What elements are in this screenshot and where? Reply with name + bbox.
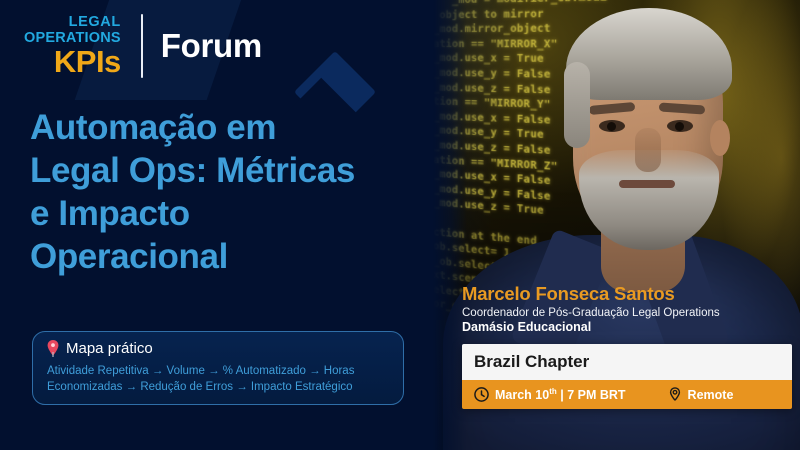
event-details-bar: March 10th | 7 PM BRT Remote — [462, 380, 792, 409]
mapa-header: Mapa prático — [47, 340, 389, 357]
brand-logo[interactable]: LEGAL OPERATIONS KPIs Forum — [24, 14, 262, 78]
portrait-nose — [635, 128, 661, 172]
logo-mark: LEGAL OPERATIONS KPIs — [24, 15, 121, 77]
portrait-mouth — [619, 180, 675, 188]
page-title: Automação em Legal Ops: Métricas e Impac… — [30, 106, 430, 278]
title-line-1: Automação em — [30, 106, 430, 149]
event-location: Remote — [668, 387, 734, 402]
mapa-heading: Mapa prático — [66, 340, 153, 357]
title-line-2: Legal Ops: Métricas — [30, 149, 430, 192]
speaker-role: Coordenador de Pós-Graduação Legal Opera… — [462, 307, 792, 319]
speaker-info: Marcelo Fonseca Santos Coordenador de Pó… — [462, 283, 792, 334]
portrait-eye-right — [667, 120, 693, 132]
event-location-text: Remote — [688, 388, 734, 402]
portrait-ear — [710, 120, 730, 156]
logo-legal-text: LEGAL — [24, 15, 121, 30]
title-line-4: Operacional — [30, 235, 430, 278]
event-banner: _mod = modifier_ob.modi object to mirror… — [0, 0, 800, 450]
location-pin-icon — [668, 387, 682, 402]
pin-icon — [47, 340, 59, 357]
portrait-eye-left — [599, 120, 625, 132]
forum-label: Forum — [161, 27, 262, 65]
clock-icon — [474, 387, 489, 402]
event-datetime: March 10th | 7 PM BRT — [474, 387, 626, 402]
chapter-card: Brazil Chapter March 10th | 7 PM BRT Rem… — [462, 344, 792, 409]
portrait-hair-side — [564, 62, 590, 148]
logo-kpis-text: KPIs — [24, 46, 121, 77]
logo-operations-text: OPERATIONS — [24, 31, 121, 46]
speaker-organization: Damásio Educacional — [462, 320, 792, 334]
mapa-flow-text: Atividade Repetitiva → Volume → % Automa… — [47, 364, 389, 395]
logo-divider — [141, 14, 143, 78]
event-datetime-text: March 10th | 7 PM BRT — [495, 387, 626, 402]
speaker-name: Marcelo Fonseca Santos — [462, 283, 792, 305]
mapa-pratico-card: Mapa prático Atividade Repetitiva → Volu… — [32, 331, 404, 405]
title-line-3: e Impacto — [30, 192, 430, 235]
chapter-name: Brazil Chapter — [462, 344, 792, 380]
portrait-hair — [566, 8, 732, 100]
